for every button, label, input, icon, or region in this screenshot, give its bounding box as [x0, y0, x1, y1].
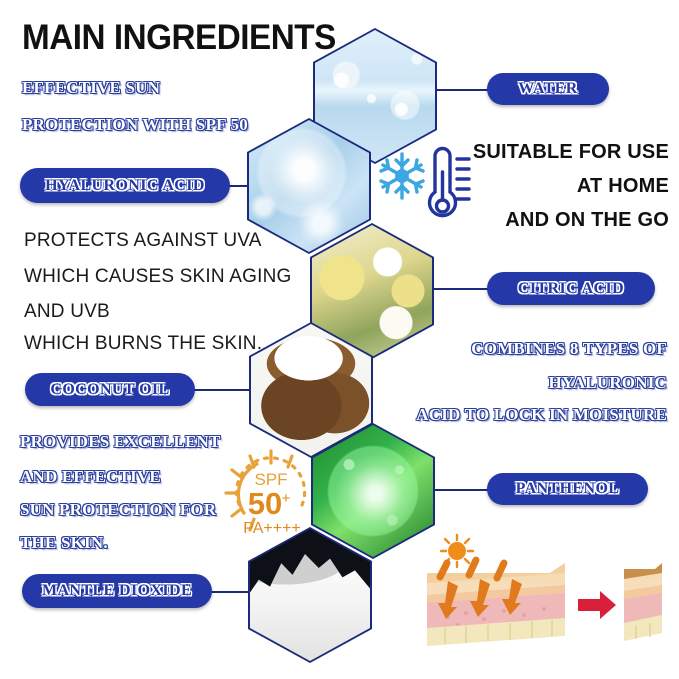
ingredient-pill-label: PANTHENOL	[516, 480, 620, 498]
ingredient-pill-panthenol[interactable]: PANTHENOL	[487, 473, 648, 505]
ingredient-pill-citric-acid[interactable]: CITRIC ACID	[487, 272, 655, 305]
spf-plus: +	[282, 490, 291, 507]
spf-claim-line-1: EFFECTIVE SUN	[22, 78, 160, 98]
ingredient-pill-label: CITRIC ACID	[518, 280, 624, 298]
portability-line-2: AT HOME	[419, 175, 669, 198]
uv-protection-line-3: AND UVB	[24, 301, 110, 323]
ingredient-pill-water[interactable]: WATER	[487, 73, 609, 105]
ingredient-pill-label: HYALURONIC ACID	[45, 177, 205, 195]
sun-protection-line-2: AND EFFECTIVE	[20, 467, 161, 487]
ingredient-pill-label: WATER	[518, 80, 578, 98]
uv-protection-line-2: WHICH CAUSES SKIN AGING	[24, 266, 291, 288]
infographic-canvas: MAIN INGREDIENTS	[0, 0, 679, 679]
portability-line-1: SUITABLE FOR USE	[419, 141, 669, 164]
spf-value: 50	[248, 486, 282, 521]
hyaluronic-blend-line-3: ACID TO LOCK IN MOISTURE	[399, 405, 667, 425]
uv-protection-line-1: PROTECTS AGAINST UVA	[24, 230, 262, 252]
sun-protection-line-1: PROVIDES EXCELLENT	[20, 432, 221, 452]
sun-protection-line-3: SUN PROTECTION FOR	[20, 500, 216, 520]
ingredient-pill-mantle-dioxide[interactable]: MANTLE DIOXIDE	[22, 574, 212, 608]
connector-mantle-dioxide	[210, 591, 254, 593]
ingredient-pill-label: MANTLE DIOXIDE	[42, 582, 192, 600]
ingredient-pill-hyaluronic-acid[interactable]: HYALURONIC ACID	[20, 168, 230, 203]
white-powder-art	[250, 529, 370, 661]
connector-coconut-oil	[192, 389, 252, 391]
connector-water	[437, 89, 489, 91]
hyaluronic-blend-line-2: HYALURONIC	[399, 373, 667, 393]
connector-citric-acid	[430, 288, 489, 290]
ingredient-pill-coconut-oil[interactable]: COCONUT OIL	[25, 373, 195, 406]
snowflake-icon	[381, 154, 423, 198]
spf-claim-line-2: PROTECTION WITH SPF 50	[22, 115, 248, 135]
uv-protection-line-4: WHICH BURNS THE SKIN.	[24, 333, 262, 355]
pa-rating: PA++++	[243, 520, 301, 537]
portability-line-3: AND ON THE GO	[419, 209, 669, 232]
spf-badge: SPF 50 + PA++++	[216, 443, 326, 543]
transform-arrow-icon	[578, 591, 616, 619]
page-title: MAIN INGREDIENTS	[22, 18, 336, 58]
skin-block-protected	[624, 563, 662, 641]
hyaluronic-blend-line-1: COMBINES 8 TYPES OF	[399, 339, 667, 359]
sun-protection-line-4: THE SKIN.	[20, 533, 108, 553]
connector-panthenol	[434, 489, 489, 491]
hexagon-powder-image	[250, 529, 370, 661]
skin-uv-diagram	[400, 533, 662, 653]
ingredient-pill-label: COCONUT OIL	[50, 381, 169, 399]
